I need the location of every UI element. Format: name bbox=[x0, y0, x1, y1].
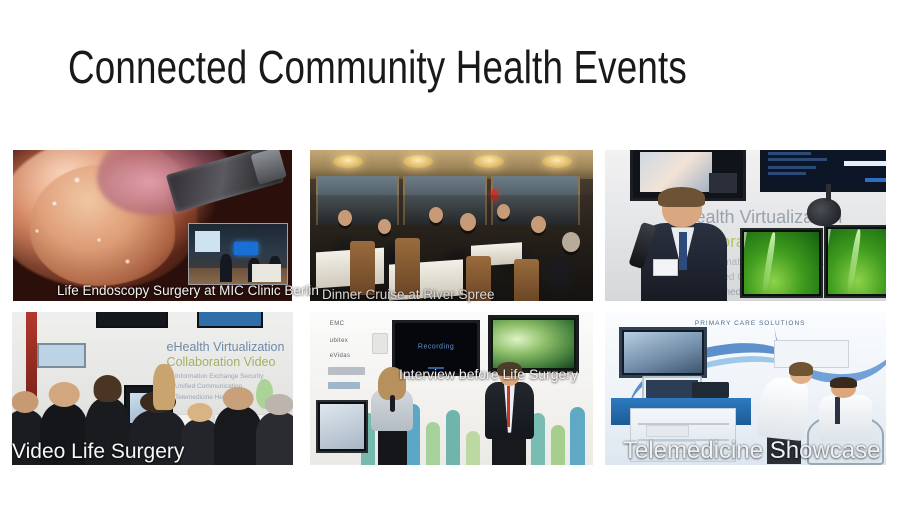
photo-interview[interactable]: EMC ubitex eVidas Recording bbox=[310, 312, 593, 465]
interviewer-legs bbox=[378, 427, 407, 465]
patient-shirt bbox=[819, 395, 873, 441]
display-monitor-left bbox=[740, 228, 823, 298]
decor-strip bbox=[551, 425, 565, 465]
logo-evidas: eVidas bbox=[330, 353, 351, 359]
photo-2-content bbox=[310, 150, 593, 301]
speaker-tie bbox=[679, 232, 687, 270]
picture-in-picture-inset bbox=[188, 223, 288, 285]
slide-canvas: Connected Community Health Events Life bbox=[0, 0, 900, 506]
photo-3-content: eHealth Virtualization Collaboration Inf… bbox=[605, 150, 886, 301]
photo-1-content bbox=[13, 150, 292, 301]
page-title: Connected Community Health Events bbox=[68, 42, 708, 94]
overhead-screen bbox=[197, 312, 263, 328]
logo-kcs bbox=[328, 382, 359, 389]
photo-1-caption: Life Endoscopy Surgery at MIC Clinic Ber… bbox=[57, 283, 319, 298]
guest-head bbox=[497, 204, 510, 219]
video-camera bbox=[807, 198, 841, 226]
photo-2-caption: Dinner Cruise at River Spree bbox=[322, 287, 495, 302]
medical-equipment bbox=[692, 382, 729, 397]
ceiling-lamp bbox=[474, 155, 504, 168]
ui-row bbox=[768, 158, 827, 161]
photo-dinner-cruise[interactable] bbox=[310, 150, 593, 301]
wall-screen-right bbox=[760, 150, 886, 192]
ceiling-lamp bbox=[333, 155, 363, 168]
decor-strip bbox=[570, 407, 584, 465]
logo-gaveon bbox=[328, 367, 365, 375]
corner-monitor bbox=[316, 400, 368, 453]
photo-5-caption: Interview before Life Surgery bbox=[399, 366, 578, 382]
decor-strip bbox=[466, 431, 480, 465]
standing-visitor bbox=[153, 364, 175, 410]
lanyard bbox=[507, 386, 510, 426]
photo-endoscopy-surgery[interactable] bbox=[13, 150, 292, 301]
guest-head bbox=[562, 232, 580, 252]
microphone bbox=[390, 395, 395, 412]
dining-chair bbox=[514, 259, 539, 301]
photo-5-content: EMC ubitex eVidas Recording bbox=[310, 312, 593, 465]
patient-hair bbox=[830, 377, 857, 388]
ceiling-lamp bbox=[542, 155, 572, 168]
ui-row bbox=[768, 166, 817, 169]
speaker-person bbox=[639, 189, 729, 301]
audience-person bbox=[214, 406, 262, 465]
pip-screen bbox=[195, 231, 220, 251]
ui-button bbox=[865, 178, 886, 182]
ui-field bbox=[844, 161, 887, 166]
lab-coat bbox=[757, 375, 810, 440]
specular-highlight bbox=[97, 238, 101, 242]
wall-text-line2: Collaboration Video bbox=[167, 355, 276, 369]
patient-tie bbox=[835, 397, 839, 424]
recording-label: Recording bbox=[418, 343, 454, 350]
ui-row bbox=[768, 152, 811, 155]
clinician-hair bbox=[789, 362, 814, 376]
photo-6-caption: Telemedicine Showcase bbox=[623, 437, 880, 465]
ceiling-lamp bbox=[403, 155, 433, 168]
primary-care-signage: PRIMARY CARE SOLUTIONS bbox=[695, 320, 806, 327]
specular-highlight bbox=[35, 229, 39, 233]
speaker-hair bbox=[658, 187, 705, 207]
specular-highlight bbox=[125, 259, 130, 264]
name-badge bbox=[653, 259, 678, 277]
wall-text-line1: eHealth Virtualization bbox=[167, 340, 285, 354]
decor-strip bbox=[426, 422, 440, 465]
wall-speaker bbox=[372, 333, 388, 353]
ui-row bbox=[768, 172, 806, 175]
decor-strip bbox=[446, 410, 460, 465]
audience-person bbox=[256, 412, 293, 465]
display-monitor-right bbox=[824, 225, 886, 298]
overhead-screen bbox=[96, 312, 167, 328]
interviewee-legs bbox=[492, 435, 526, 465]
pip-person bbox=[220, 254, 232, 282]
logo-ubitex: ubitex bbox=[330, 338, 348, 344]
side-monitor bbox=[37, 343, 86, 368]
photo-4-caption: Video Life Surgery bbox=[12, 440, 184, 464]
photo-ehealth-speaker[interactable]: eHealth Virtualization Collaboration Inf… bbox=[605, 150, 886, 301]
pip-blue-screen bbox=[234, 242, 258, 255]
pip-poster bbox=[252, 264, 281, 282]
interviewer-person bbox=[369, 370, 414, 465]
wall-monitor bbox=[619, 327, 706, 377]
logo-emc: EMC bbox=[330, 321, 345, 327]
